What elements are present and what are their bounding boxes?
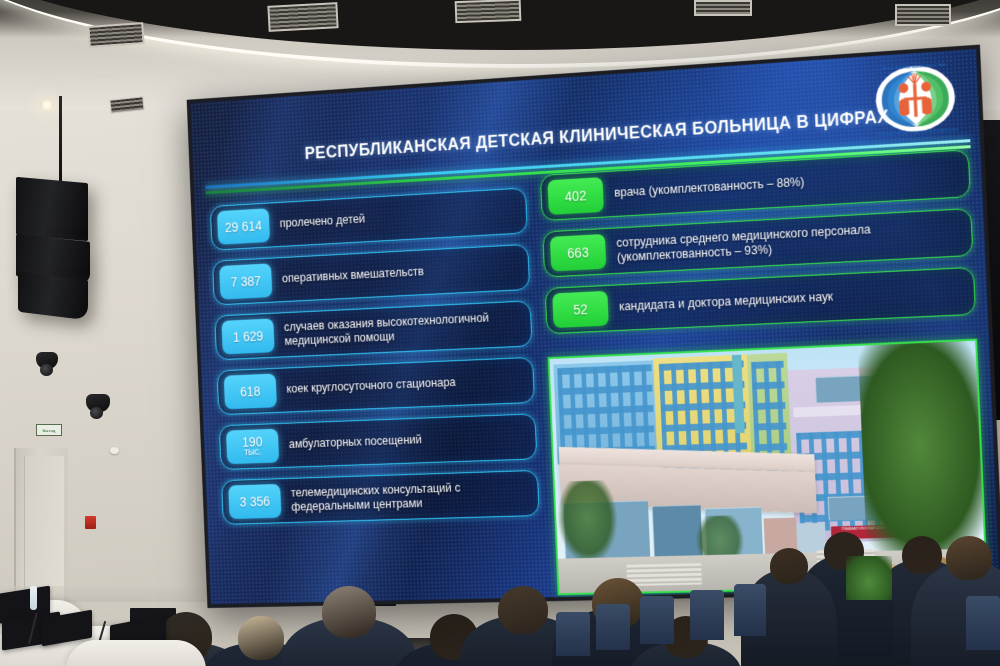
ceiling-air-vent xyxy=(267,2,338,32)
stat-label: случаев оказания высокотехнологичной мед… xyxy=(284,309,524,349)
person-head xyxy=(902,536,942,574)
chair-back xyxy=(596,604,630,650)
stat-label: коек круглосуточного стационара xyxy=(286,376,456,397)
stat-value: 52 xyxy=(573,302,588,317)
stat-value-badge: 663 xyxy=(550,234,607,272)
stat-label: пролечено детей xyxy=(279,212,365,231)
stat-label: кандидата и доктора медицинских наук xyxy=(619,290,834,315)
stat-value-badge: 190тыс. xyxy=(226,429,279,464)
stat-label: сотрудника среднего медицинского персона… xyxy=(616,217,964,265)
stat-value: 1 629 xyxy=(233,329,264,344)
stat-value: 29 614 xyxy=(225,219,262,235)
stat-row: 3 356телемедицинских консультаций с феде… xyxy=(221,470,540,525)
presentation-slide: РЕСПУБЛИКА БАШКОРТОСТАН РЕСПУБЛИКАНСКАЯ … xyxy=(190,49,1000,604)
stat-row: 1 629случаев оказания высокотехнологично… xyxy=(214,300,532,360)
stat-value-badge: 52 xyxy=(552,291,609,328)
ceiling-air-vent xyxy=(87,22,144,48)
stat-value-badge: 3 356 xyxy=(228,484,281,519)
stats-column-left: 29 614пролечено детей7 387оперативных вм… xyxy=(210,187,540,535)
ptz-camera xyxy=(86,394,110,412)
stat-row: 7 387оперативных вмешательств xyxy=(212,244,530,306)
person-head xyxy=(238,616,284,660)
person-head xyxy=(946,536,992,580)
stat-row: 663сотрудника среднего медицинского перс… xyxy=(542,208,973,278)
stat-value: 7 387 xyxy=(230,274,261,289)
stat-value-unit: тыс. xyxy=(244,448,261,458)
stat-row: 618коек круглосуточного стационара xyxy=(217,357,535,415)
potted-plant xyxy=(846,556,892,600)
stat-label: оперативных вмешательств xyxy=(282,265,424,287)
stat-value-badge: 1 629 xyxy=(221,318,274,354)
smoke-detector xyxy=(110,447,119,454)
stat-label: врача (укомплектованность – 88%) xyxy=(614,175,805,201)
ceiling-air-vent xyxy=(455,0,522,23)
ceiling-air-vent xyxy=(895,4,951,26)
line-array-speaker xyxy=(18,272,88,321)
ceiling-speaker-disc xyxy=(86,68,116,78)
water-bottle xyxy=(30,586,37,610)
chair-back xyxy=(734,584,766,636)
person-head xyxy=(770,548,808,584)
stat-row: 29 614пролечено детей xyxy=(210,187,528,250)
stat-label: амбулаторных посещений xyxy=(289,433,422,452)
chair-back xyxy=(556,612,590,656)
stat-value: 618 xyxy=(240,384,261,398)
fire-alarm-button[interactable] xyxy=(85,516,96,529)
led-video-wall: РЕСПУБЛИКА БАШКОРТОСТАН РЕСПУБЛИКАНСКАЯ … xyxy=(187,45,1000,609)
screenshot-root: Выход xyxy=(0,0,1000,666)
stat-row: 52кандидата и доктора медицинских наук xyxy=(545,267,976,334)
stat-value-badge: 7 387 xyxy=(219,263,272,299)
ceiling-downlight xyxy=(40,100,54,110)
stat-value: 3 356 xyxy=(239,494,270,508)
stat-value: 402 xyxy=(565,188,587,203)
chair-back xyxy=(966,596,1000,650)
stats-column-right: 402врача (укомплектованность – 88%)663со… xyxy=(540,149,977,344)
ceiling-air-vent xyxy=(694,0,752,16)
speaker-suspension-cable xyxy=(59,96,62,182)
stat-value: 663 xyxy=(567,245,589,260)
stat-label: телемедицинских консультаций с федеральн… xyxy=(291,478,532,514)
stat-value-badge: 29 614 xyxy=(217,208,270,244)
stat-value-badge: 618 xyxy=(224,374,277,410)
person-head xyxy=(498,586,548,634)
stat-value-badge: 402 xyxy=(547,177,604,215)
chair-back xyxy=(640,596,674,644)
speaker-desk xyxy=(66,640,206,666)
exit-sign: Выход xyxy=(36,424,62,436)
line-array-speaker xyxy=(16,177,88,241)
person-head xyxy=(322,586,376,638)
chair-back xyxy=(690,590,724,640)
stat-row: 190тыс.амбулаторных посещений xyxy=(219,413,537,470)
